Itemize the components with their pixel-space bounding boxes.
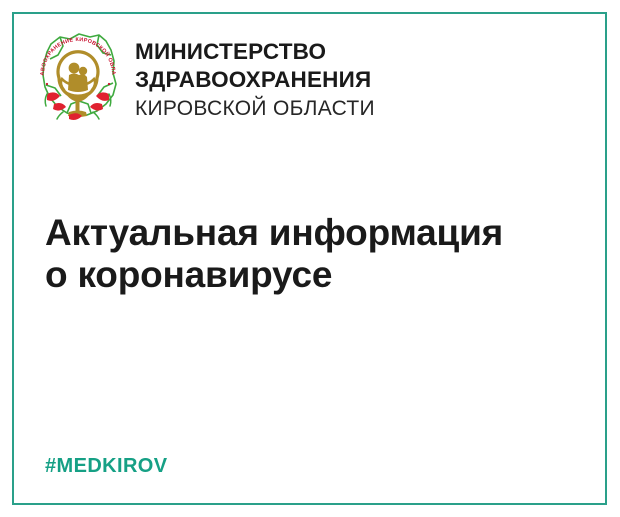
page-title: Актуальная информация о коронавирусе: [45, 212, 503, 296]
ministry-name-line1: МИНИСТЕРСТВО: [135, 38, 375, 66]
kirov-health-ministry-emblem: ЗДРАВООХРАНЕНИЕ КИРОВСКОЙ ОБЛАСТИ: [33, 28, 123, 123]
page-title-line1: Актуальная информация: [45, 212, 503, 254]
poster-canvas: ЗДРАВООХРАНЕНИЕ КИРОВСКОЙ ОБЛАСТИ: [0, 0, 620, 517]
ministry-logo-lockup: ЗДРАВООХРАНЕНИЕ КИРОВСКОЙ ОБЛАСТИ: [33, 28, 375, 123]
ministry-name-line3: КИРОВСКОЙ ОБЛАСТИ: [135, 94, 375, 123]
page-title-line2: о коронавирусе: [45, 254, 503, 296]
ministry-name-line2: ЗДРАВООХРАНЕНИЯ: [135, 66, 375, 94]
ministry-name-block: МИНИСТЕРСТВО ЗДРАВООХРАНЕНИЯ КИРОВСКОЙ О…: [135, 28, 375, 123]
hashtag-medkirov: #MEDKIROV: [45, 455, 168, 478]
